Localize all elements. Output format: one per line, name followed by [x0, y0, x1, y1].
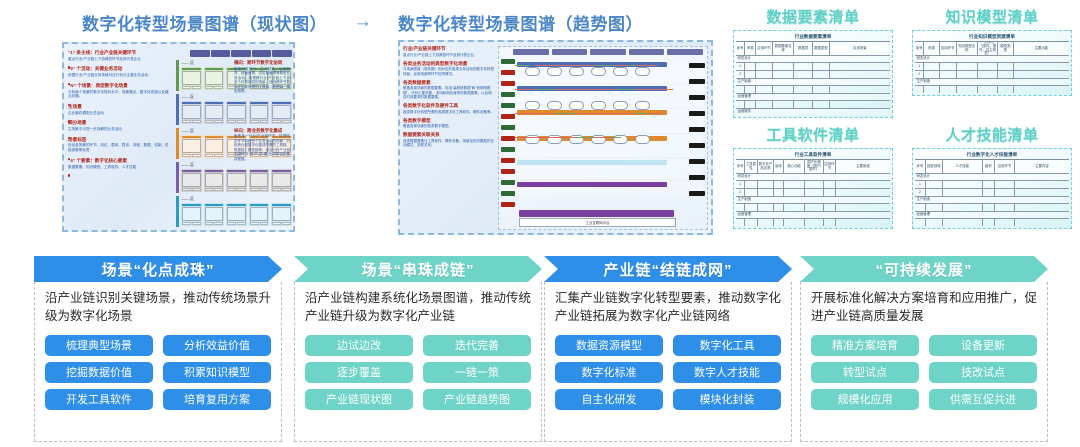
pillar-banner-label: “可持续发展”: [875, 259, 972, 280]
trend-target-chip[interactable]: [689, 95, 705, 100]
table-cell: [915, 204, 926, 211]
inventory-table-grid: 序号技能领域人才技能级别应用环节主要内容研发设计12生产制造经营管理: [915, 160, 1069, 226]
table-cell: [830, 71, 890, 78]
scene-cell-bar: [205, 170, 224, 172]
table-cell: [784, 204, 806, 211]
trend-source-chip[interactable]: [501, 180, 515, 185]
annotation-head: “5” 个活动：关键业务活动: [68, 66, 172, 72]
trend-node[interactable]: [547, 67, 562, 76]
table-cell: [836, 189, 890, 196]
trend-node[interactable]: [525, 101, 540, 110]
table-section-label: 生产制造: [736, 197, 890, 203]
table-row[interactable]: [736, 101, 890, 109]
inventory-list-card[interactable]: 知识模型清单行业知识模型资源清单序号来源应用环节知识模型名称产出情况（国内、国外…: [912, 6, 1072, 96]
annotation-sub: 聚焦研发设计、生产制造、运维服务、经营管理、供应链管理等典型业务活动，梳理跨行业…: [234, 67, 290, 94]
scene-cell[interactable]: [204, 101, 225, 124]
table-row[interactable]: [736, 86, 890, 94]
scene-cell[interactable]: [204, 67, 225, 90]
scene-cell[interactable]: [181, 101, 202, 124]
scene-cell-box: [227, 173, 246, 187]
trend-connector: [595, 137, 609, 138]
table-cell: 1: [736, 181, 745, 188]
table-section-row[interactable]: 研发设计: [915, 174, 1069, 181]
trend-connector: [635, 89, 673, 90]
band-label: —— 区: [181, 128, 194, 134]
table-cell: [794, 101, 812, 108]
table-cell: [983, 204, 995, 211]
pillar-banner-label: 场景“化点成珠”: [101, 259, 214, 280]
pillar-body: 沿产业链构建系统化场景图谱，推动传统产业链升级为数字化产业链边试边改迭代完善逐步…: [294, 282, 542, 442]
table-section-row[interactable]: 生产制造: [736, 197, 890, 204]
pillar-action-pill[interactable]: 开发工具软件: [45, 389, 153, 410]
inventory-list-card[interactable]: 人才技能清单行业数字化人才技能清单序号技能领域人才技能级别应用环节主要内容研发设…: [912, 124, 1072, 229]
table-cell: 2: [915, 71, 924, 78]
table-header-row: 序号来源应用环节数据要素名称数据项数据类型应用场景: [736, 42, 890, 56]
table-row[interactable]: [915, 219, 1069, 226]
table-cell: [745, 71, 756, 78]
scene-cell-bar: [182, 136, 201, 138]
trend-header-chip: [590, 49, 626, 55]
trend-node[interactable]: [635, 135, 650, 144]
table-section-row[interactable]: 研发设计: [736, 56, 890, 63]
table-cell: [774, 204, 783, 211]
table-header-cell: 国产化程度（国产/国外）: [805, 160, 823, 173]
table-section-label: 运维服务: [736, 109, 890, 115]
scene-cell[interactable]: [181, 203, 202, 226]
trend-node[interactable]: [547, 101, 562, 110]
table-cell: [998, 63, 1013, 70]
table-cell: [758, 219, 775, 226]
trend-target-chip[interactable]: [689, 175, 705, 180]
table-section-row[interactable]: 研发设计: [736, 174, 890, 181]
pillar-action-pill[interactable]: 自主化研发: [555, 389, 663, 410]
pillar-banner[interactable]: 场景“化点成珠”: [34, 256, 282, 282]
trend-node[interactable]: [591, 67, 606, 76]
scene-cell-foot: [182, 154, 201, 157]
trend-target-chip[interactable]: [689, 79, 705, 84]
current-state-diagram[interactable]: “1” 条主线：行业产业链关键环节重点行业/产业链上下游典型环节及其代表企业“5…: [62, 42, 295, 232]
annotation-sub: 与场景图谱（现状图）相对应的各类业务活动的数字化转型场景，反映场景跨环节协同情况…: [403, 67, 495, 76]
pillar-action-pill[interactable]: 迭代完善: [423, 335, 531, 356]
scene-cell-bar: [250, 170, 269, 172]
trend-source-chip[interactable]: [501, 147, 515, 152]
scene-cell-foot: [182, 120, 201, 123]
table-section-row[interactable]: 生产制造: [915, 79, 1069, 86]
inventory-list-title: 知识模型清单: [912, 6, 1072, 27]
trend-target-chip[interactable]: [689, 63, 705, 68]
table-row[interactable]: 1: [736, 63, 890, 71]
scene-cell-bar: [272, 204, 291, 206]
table-section-label: 生产制造: [915, 197, 1069, 203]
scene-cell-bar: [182, 102, 201, 104]
pillar-body: 开展标准化解决方案培育和应用推广，促进产业链高质量发展精准方案培育设备更新转型试…: [800, 282, 1048, 442]
table-section-label: 研发设计: [736, 56, 890, 62]
table-header-cell: 序号: [915, 160, 926, 173]
table-cell: 1: [915, 63, 924, 70]
scene-cell[interactable]: [249, 203, 270, 226]
table-section-label: 研发设计: [915, 174, 1069, 180]
trend-left-annotations: 行业/产业链关键环节重点行业/产业链上下游典型环节及其代表企业。各类业务活动的典…: [403, 46, 495, 151]
trend-target-chip[interactable]: [689, 111, 705, 116]
scene-cell[interactable]: [226, 169, 247, 192]
table-row[interactable]: [915, 86, 1069, 93]
trend-source-chip[interactable]: [501, 81, 515, 86]
table-section-row[interactable]: 研发设计: [915, 56, 1069, 63]
table-cell: [784, 189, 806, 196]
table-cell: [957, 63, 979, 70]
table-header-cell: 应用场景: [830, 42, 890, 55]
scene-cell-bar: [205, 102, 224, 104]
scene-cell[interactable]: [249, 169, 270, 192]
trend-header-chip: [513, 49, 549, 55]
table-cell: [813, 63, 830, 70]
trend-source-chip[interactable]: [501, 59, 515, 64]
annotation-head: 各类业务活动的典型数字化场景: [403, 61, 495, 67]
table-cell: [736, 101, 745, 108]
scene-cell[interactable]: [271, 169, 292, 192]
table-cell: [736, 86, 745, 93]
scene-cell-foot: [205, 154, 224, 157]
table-cell: [995, 189, 1015, 196]
table-cell: [940, 63, 957, 70]
table-cell: [813, 101, 830, 108]
scene-cell[interactable]: [181, 67, 202, 90]
trend-node[interactable]: [635, 67, 650, 76]
pillar-card[interactable]: 产业链“结链成网”汇集产业链数字化转型要素，推动数字化产业链拓展为数字化产业链网…: [544, 256, 792, 442]
table-cell: [756, 71, 773, 78]
pillar-card[interactable]: 场景“串珠成链”沿产业链构建系统化场景图谱，推动传统产业链升级为数字化产业链边试…: [294, 256, 542, 442]
scene-cell-foot: [250, 222, 269, 225]
trend-source-chip[interactable]: [501, 70, 515, 75]
scene-cell-box: [182, 71, 201, 85]
pillar-description: 沿产业链识别关键场景，推动传统场景升级为数字化场景: [45, 290, 271, 326]
trend-header-chip: [552, 49, 588, 55]
trend-connector: [575, 89, 589, 90]
band-label: —— 区: [181, 94, 194, 100]
scene-cell-box: [205, 139, 224, 153]
pillar-action-pill[interactable]: 技改试点: [929, 362, 1037, 383]
pillar-card[interactable]: “可持续发展”开展标准化解决方案培育和应用推广，促进产业链高质量发展精准方案培育…: [800, 256, 1048, 442]
table-header-cell: 人才技能: [943, 160, 983, 173]
trend-target-chip[interactable]: [689, 143, 705, 148]
band-rail: [176, 196, 179, 227]
table-cell: [998, 86, 1013, 93]
table-header-cell: 级别: [983, 160, 995, 173]
pillar-action-pill[interactable]: 模块化封装: [673, 389, 781, 410]
table-header-cell: 主要用途: [836, 160, 890, 173]
annotation-sub: 覆盖各类场景的数据要素，包括“高频铁数据”和“低频明数据”，分析汇集采集、流动和…: [403, 86, 495, 100]
table-header-cell: 知识模型名称: [957, 42, 979, 55]
pillar-action-pill[interactable]: 设备更新: [929, 335, 1037, 356]
pillar-banner[interactable]: 场景“串珠成链”: [294, 256, 542, 282]
pillar-action-grid: 精准方案培育设备更新转型试点技改试点规模化应用供需互促共进: [811, 335, 1037, 410]
trend-target-chip[interactable]: [689, 191, 705, 196]
table-cell: [978, 86, 998, 93]
table-row[interactable]: 2: [915, 189, 1069, 197]
pillar-action-pill[interactable]: 边试边改: [305, 335, 413, 356]
table-row[interactable]: 2: [736, 189, 890, 197]
table-cell: [995, 219, 1015, 226]
table-cell: [824, 219, 836, 226]
table-section-row[interactable]: 生产制造: [736, 79, 890, 86]
pillar-action-pill[interactable]: 梳理典型场景: [45, 335, 153, 356]
table-cell: [794, 86, 812, 93]
table-row[interactable]: [736, 219, 890, 226]
pillar-action-pill[interactable]: 精准方案培育: [811, 335, 919, 356]
scene-cell-foot: [272, 188, 291, 191]
annotation-sub: 重点行业/产业链上下游典型环节及其代表企业: [68, 57, 172, 62]
table-cell: [794, 71, 812, 78]
trend-node[interactable]: [591, 101, 606, 110]
annotation-block: 细分场景主场景中可进一步拆解的业务活动: [68, 120, 172, 131]
trend-source-chip[interactable]: [501, 92, 515, 97]
pillar-action-pill[interactable]: 转型试点: [811, 362, 919, 383]
trend-node[interactable]: [525, 67, 540, 76]
pillar-action-pill[interactable]: 数字化工具: [673, 335, 781, 356]
trend-target-chip[interactable]: [689, 127, 705, 132]
pillar-banner-label: 场景“串珠成链”: [361, 259, 474, 280]
table-cell: [915, 219, 926, 226]
table-cell: [830, 101, 890, 108]
pillar-action-pill[interactable]: 分析效益价值: [163, 335, 271, 356]
table-section-label: 经营管理: [736, 212, 890, 218]
annotation-head: “4” 个要素：数字化核心要素: [68, 158, 172, 164]
table-cell: [943, 181, 983, 188]
scene-cell-box: [205, 173, 224, 187]
current-left-annotations: “1” 条主线：行业产业链关键环节重点行业/产业链上下游典型环节及其代表企业“5…: [68, 50, 172, 174]
table-section-label: 经营管理: [915, 212, 1069, 218]
annotation-sub: 依据行业/产业链业务场域对应行划分主要业务活动: [68, 73, 172, 78]
table-header-cell: 序号: [736, 160, 745, 173]
scene-cell-foot: [227, 188, 246, 191]
annotation-block: 数据要素关联关系各类数据要素与工具软件、硬件设备、场景及知识模型的互动模式、关联…: [403, 132, 495, 148]
table-cell: [758, 181, 775, 188]
scene-cell-bar: [205, 136, 224, 138]
trend-connector: [635, 113, 649, 114]
trend-target-chip[interactable]: [689, 159, 705, 164]
pillar-action-pill[interactable]: 积累知识模型: [163, 362, 271, 383]
scene-cell-foot: [182, 188, 201, 191]
pillar-action-pill[interactable]: 数据资源模型: [555, 335, 663, 356]
table-cell: [983, 181, 995, 188]
band-label: —— 区: [181, 60, 194, 66]
annotation-block: 横向：跨环节数字化协同聚焦研发设计、生产制造、运维服务、经营管理、供应链管理等典…: [234, 60, 290, 94]
scene-cell-foot: [205, 86, 224, 89]
inventory-table-caption: 行业知识模型资源清单: [915, 33, 1069, 42]
trend-source-chip[interactable]: [501, 114, 515, 119]
table-section-row[interactable]: 经营管理: [736, 94, 890, 101]
table-cell: [756, 86, 773, 93]
table-row[interactable]: 1: [915, 63, 1069, 71]
trend-source-chip[interactable]: [501, 158, 515, 163]
annotation-sub: 聚焦某一行业/产业链环节，梳理特定环节内跨多个业务活动的场景，分析跨业务数字化集…: [234, 134, 290, 161]
table-cell: [924, 86, 939, 93]
table-cell: 2: [736, 189, 745, 196]
table-section-row[interactable]: 生产制造: [915, 197, 1069, 204]
inventory-table-caption: 行业数据要素清单: [736, 33, 890, 42]
table-cell: [983, 189, 995, 196]
inventory-list-card[interactable]: 工具软件清单行业工具软件清单序号工具属性数字化产品名称版本核心功能国产化程度（国…: [733, 124, 893, 229]
trend-connector: [595, 89, 617, 90]
pillar-action-pill[interactable]: 规模化应用: [811, 389, 919, 410]
table-cell: [805, 189, 823, 196]
pillar-action-pill[interactable]: 逐步覆盖: [305, 362, 413, 383]
trend-node[interactable]: [569, 101, 584, 110]
scene-cell-bar: [182, 170, 201, 172]
scene-cell[interactable]: [226, 203, 247, 226]
table-header-cell: 主要内容: [1015, 160, 1069, 173]
trend-source-chip[interactable]: [501, 169, 515, 174]
annotation-head: 横向：跨环节数字化协同: [234, 60, 290, 66]
table-cell: [940, 86, 957, 93]
table-cell: [756, 101, 773, 108]
trend-connector: [515, 65, 529, 66]
pillar-banner[interactable]: “可持续发展”: [800, 256, 1048, 282]
annotation-head: “1” 条主线：行业产业链关键环节: [68, 50, 172, 56]
band-header-chevron: [211, 50, 231, 57]
annotation-block: “4” 个要素：数字化核心要素数据要素、知识模型、工具软件、人才技能: [68, 158, 172, 169]
table-header-cell: 工具属性: [745, 160, 757, 173]
table-cell: [1014, 63, 1069, 70]
activity-band: —— 区: [176, 196, 292, 227]
pillar-action-pill[interactable]: 数字化标准: [555, 362, 663, 383]
table-cell: [745, 101, 756, 108]
table-section-label: 生产制造: [915, 79, 1069, 85]
scene-cell-box: [250, 173, 269, 187]
pillar-description: 沿产业链构建系统化场景图谱，推动传统产业链升级为数字化产业链: [305, 290, 531, 326]
trend-source-chip[interactable]: [501, 103, 515, 108]
table-cell: [836, 181, 890, 188]
trend-node[interactable]: [635, 101, 650, 110]
trend-node[interactable]: [569, 67, 584, 76]
table-cell: [978, 63, 998, 70]
pillar-card[interactable]: 场景“化点成珠”沿产业链识别关键场景，推动传统场景升级为数字化场景梳理典型场景分…: [34, 256, 282, 442]
scene-cell-bar: [272, 170, 291, 172]
table-cell: [926, 181, 943, 188]
table-cell: [805, 219, 823, 226]
table-cell: [794, 63, 812, 70]
scene-cell-bar: [250, 204, 269, 206]
table-cell: [774, 189, 783, 196]
annotation-sub: 数据要素、知识模型、工具软件、人才技能: [68, 165, 172, 170]
trend-node[interactable]: [613, 67, 628, 76]
scene-cell[interactable]: [204, 203, 225, 226]
table-cell: [830, 63, 890, 70]
table-cell: [943, 219, 983, 226]
scene-cell[interactable]: [181, 135, 202, 158]
inventory-list-title: 人才技能清单: [912, 124, 1072, 145]
table-header-cell: 序号: [736, 42, 745, 55]
pillar-action-pill[interactable]: 产业链趋势图: [423, 389, 531, 410]
table-cell: [745, 86, 756, 93]
table-cell: [1015, 204, 1069, 211]
scene-cell[interactable]: [204, 169, 225, 192]
table-row[interactable]: 1: [736, 181, 890, 189]
table-section-label: 生产制造: [736, 79, 890, 85]
table-cell: [943, 204, 983, 211]
inventory-table: 行业数字化人才技能清单序号技能领域人才技能级别应用环节主要内容研发设计12生产制…: [912, 148, 1072, 229]
trend-map-title: 数字化转型场景图谱（趋势图）: [398, 10, 643, 35]
scene-cell-box: [205, 105, 224, 119]
table-cell: 2: [915, 189, 926, 196]
pillar-action-pill[interactable]: 培育复用方案: [163, 389, 271, 410]
scene-cell-box: [182, 207, 201, 221]
trend-connector: [535, 65, 557, 66]
trend-node[interactable]: [613, 101, 628, 110]
annotation-block: “5” 个活动：关键业务活动依据行业/产业链业务场域对应行划分主要业务活动: [68, 66, 172, 77]
band-rail: [176, 128, 179, 159]
table-cell: [1015, 189, 1069, 196]
table-header-cell: 序号: [915, 42, 924, 55]
table-row[interactable]: [736, 204, 890, 212]
trend-connector: [535, 113, 549, 114]
trend-source-chip[interactable]: [501, 202, 515, 207]
annotation-head: 纵向：跨业务数字化集成: [234, 128, 290, 134]
scene-cell-foot: [205, 222, 224, 225]
annotation-head: 各类数据要素: [403, 80, 495, 86]
band-header-chevron: [190, 50, 210, 57]
inventory-table-caption: 行业数字化人才技能清单: [915, 151, 1069, 160]
table-row[interactable]: 1: [915, 181, 1069, 189]
trend-source-chip[interactable]: [501, 125, 515, 130]
table-row[interactable]: 2: [915, 71, 1069, 79]
annotation-block: 纵向：跨业务数字化集成聚焦某一行业/产业链环节，梳理特定环节内跨多个业务活动的场…: [234, 128, 290, 162]
table-cell: [745, 63, 756, 70]
current-map-title: 数字化转型场景图谱（现状图）: [82, 10, 327, 35]
annotation-sub: 各类数据要素与工具软件、硬件设备、场景及知识模型的互动模式、关联关系。: [403, 139, 495, 148]
table-header-row: 序号来源应用环节知识模型名称产出情况（国内、国外、自主研发）模型类型主要功能: [915, 42, 1069, 56]
scene-cell[interactable]: [181, 169, 202, 192]
pillar-banner[interactable]: 产业链“结链成网”: [544, 256, 792, 282]
table-cell: [926, 189, 943, 196]
table-row[interactable]: 2: [736, 71, 890, 79]
pillar-action-pill[interactable]: 挖掘数据价值: [45, 362, 153, 383]
pillar-action-pill[interactable]: 产业链现状图: [305, 389, 413, 410]
table-section-row[interactable]: 经营管理: [736, 212, 890, 219]
table-cell: [1014, 71, 1069, 78]
trend-source-chip[interactable]: [501, 136, 515, 141]
table-row[interactable]: [915, 204, 1069, 212]
trend-diagram[interactable]: 行业/产业链关键环节重点行业/产业链上下游典型环节及其代表企业。各类业务活动的典…: [398, 40, 713, 235]
table-header-cell: 核心功能: [784, 160, 806, 173]
trend-source-chip[interactable]: [501, 191, 515, 196]
pillar-action-grid: 数据资源模型数字化工具数字化标准数字人才技能自主化研发模块化封装: [555, 335, 781, 410]
inventory-table-grid: 序号工具属性数字化产品名称版本核心功能国产化程度（国产/国外）应用环节主要用途研…: [736, 160, 890, 226]
scene-cell-box: [272, 173, 291, 187]
table-cell: [940, 71, 957, 78]
table-header-cell: 版本: [774, 160, 783, 173]
table-cell: [836, 219, 890, 226]
table-section-row[interactable]: 经营管理: [915, 212, 1069, 219]
table-cell: [745, 189, 757, 196]
trend-band-strip: [517, 160, 667, 165]
pillar-action-pill[interactable]: 数字人才技能: [673, 362, 781, 383]
table-cell: [926, 219, 943, 226]
table-section-row[interactable]: 运维服务: [736, 109, 890, 115]
annotation-sub: 企业最终模型业务活动: [68, 111, 172, 116]
table-cell: [784, 219, 806, 226]
scene-cell[interactable]: [271, 203, 292, 226]
inventory-list-card[interactable]: 数据要素清单行业数据要素清单序号来源应用环节数据要素名称数据项数据类型应用场景研…: [733, 6, 893, 118]
trend-connector: [515, 137, 537, 138]
pillar-action-pill[interactable]: 一链一策: [423, 362, 531, 383]
table-cell: [924, 63, 939, 70]
table-header-row: 序号工具属性数字化产品名称版本核心功能国产化程度（国产/国外）应用环节主要用途: [736, 160, 890, 174]
pillar-action-pill[interactable]: 供需互促共进: [929, 389, 1037, 410]
scene-cell[interactable]: [204, 135, 225, 158]
table-header-cell: 产出情况（国内、国外、自主研发）: [978, 42, 998, 55]
table-header-cell: 应用环节: [940, 42, 957, 55]
